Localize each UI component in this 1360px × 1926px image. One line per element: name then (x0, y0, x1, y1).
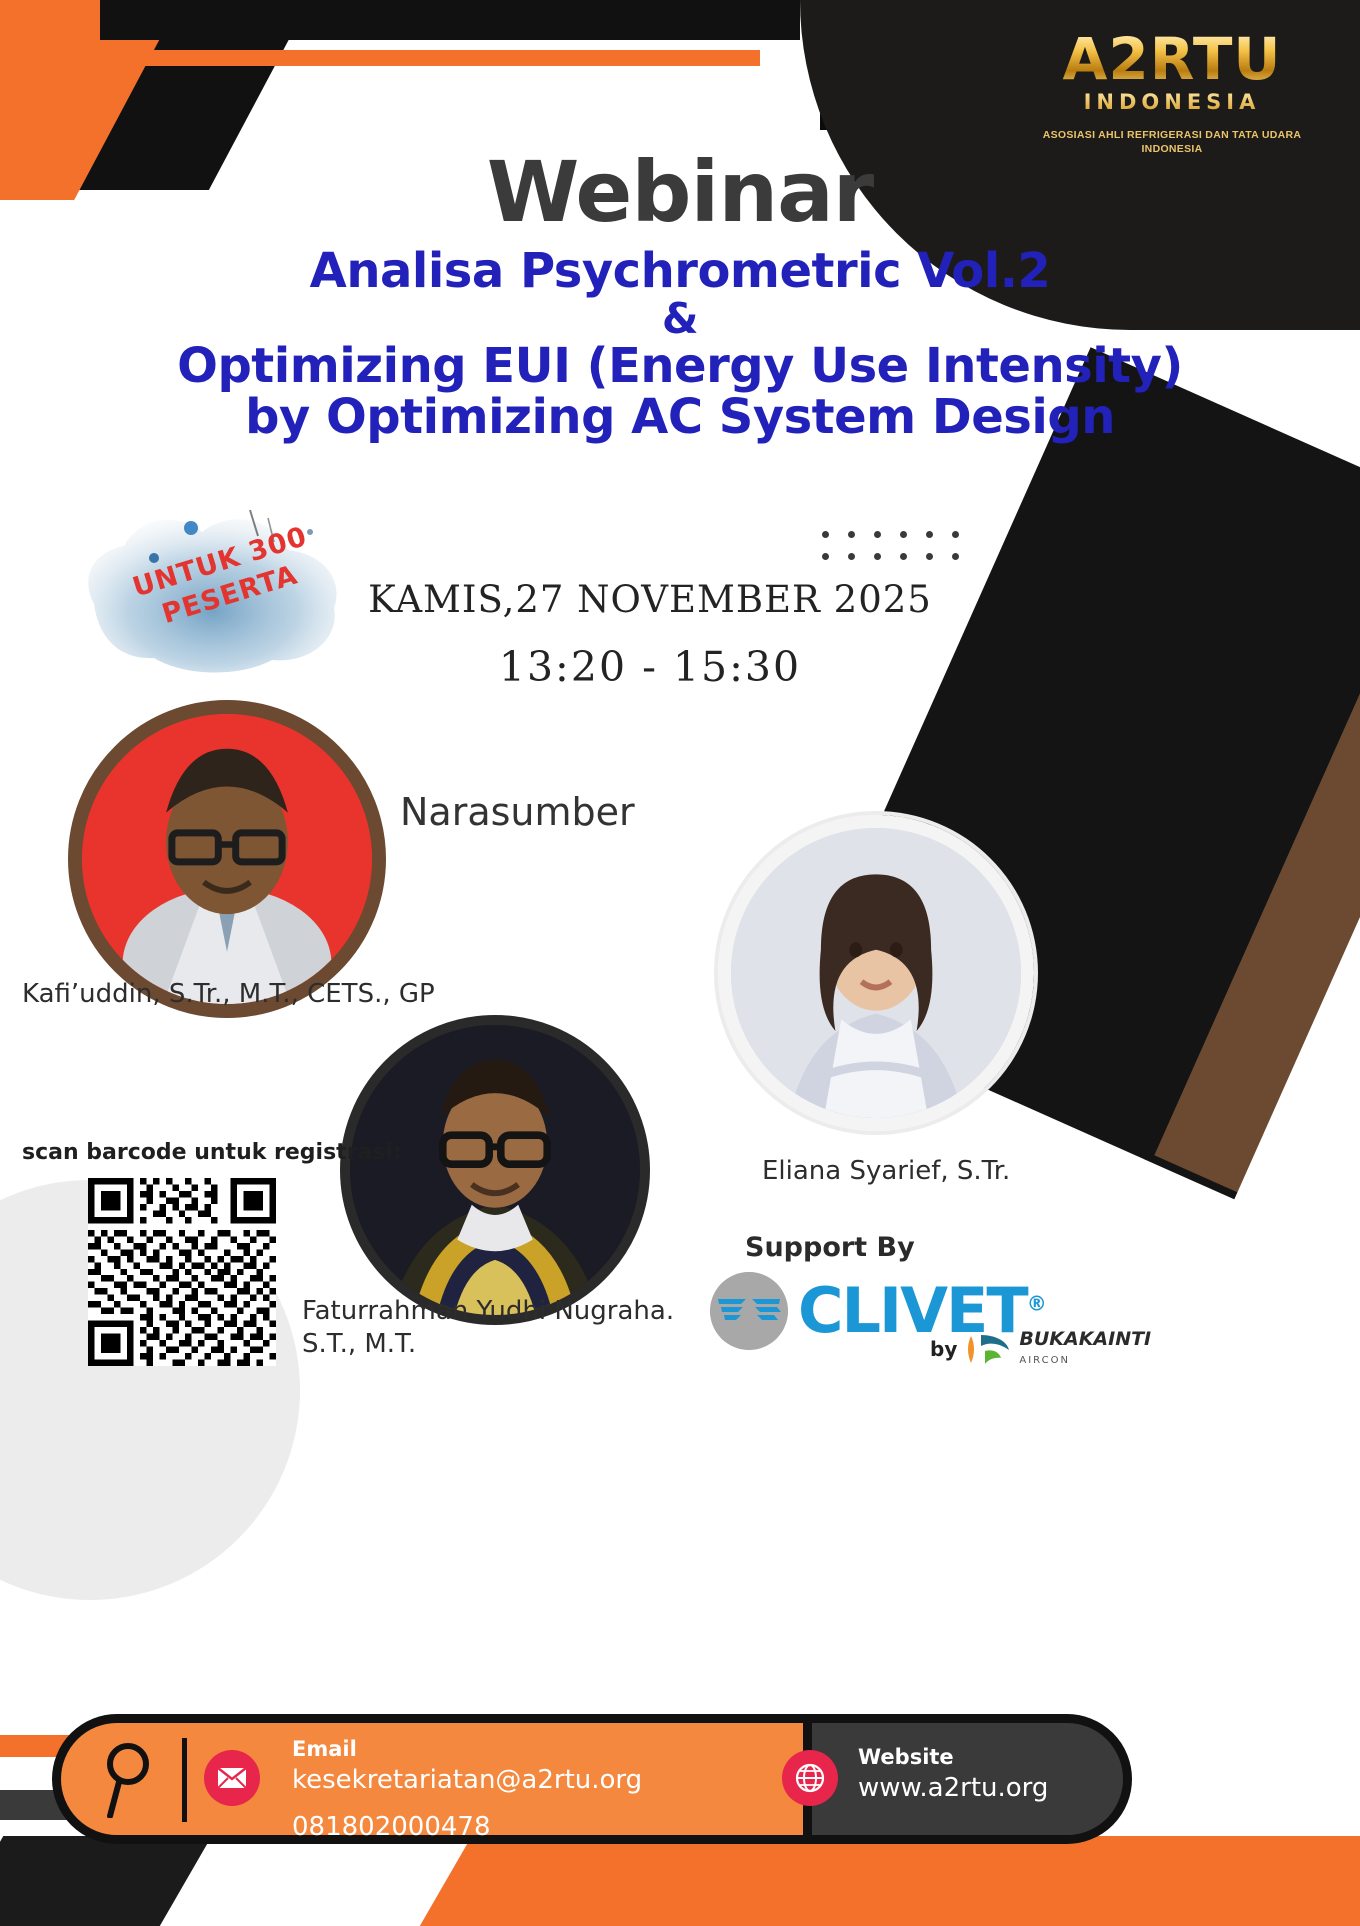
speaker-name-3-line2: S.T., M.T. (302, 1328, 702, 1361)
website-value[interactable]: www.a2rtu.org (858, 1771, 1048, 1806)
support-label: Support By (745, 1232, 915, 1263)
by-label: by (930, 1337, 957, 1361)
person-icon (102, 1742, 160, 1818)
website-label: Website (858, 1744, 1048, 1771)
subtitle-line-4: by Optimizing AC System Design (0, 392, 1360, 443)
subtitle-line-1: Analisa Psychrometric Vol.2 (0, 246, 1360, 297)
top-black-bar (100, 0, 800, 40)
speakers-section-label: Narasumber (400, 790, 635, 834)
clivet-mark-icon (710, 1272, 788, 1350)
phone-value[interactable]: 081802000478 (292, 1812, 491, 1842)
logo-wordmark: A2RTU (1022, 30, 1322, 88)
email-icon (204, 1750, 260, 1806)
speaker-name-1: Kafi’uddin, S.Tr., M.T., CETS., GP (22, 978, 502, 1011)
title-block: Webinar Analisa Psychrometric Vol.2 & Op… (0, 150, 1360, 443)
globe-icon (782, 1750, 838, 1806)
registered-mark-icon: ® (1027, 1291, 1045, 1315)
bukakainti-sub: AIRCON (1019, 1355, 1070, 1366)
a2rtu-logo: A2RTU INDONESIA ASOSIASI AHLI REFRIGERAS… (1022, 30, 1322, 156)
logo-tagline: ASOSIASI AHLI REFRIGERASI DAN TATA UDARA… (1022, 128, 1322, 156)
subtitle-ampersand: & (0, 297, 1360, 342)
event-date: KAMIS,27 NOVEMBER 2025 (330, 578, 970, 621)
footer-divider (182, 1738, 187, 1822)
email-value[interactable]: kesekretariatan@a2rtu.org (292, 1763, 642, 1798)
speaker-photo-1 (68, 700, 386, 1018)
logo-tagline-line2: INDONESIA (1022, 142, 1322, 156)
logo-country: INDONESIA (1022, 90, 1322, 114)
email-block: Email kesekretariatan@a2rtu.org (292, 1736, 642, 1798)
webinar-poster: A2RTU INDONESIA ASOSIASI AHLI REFRIGERAS… (0, 0, 1360, 1926)
page-title: Webinar (0, 150, 1360, 234)
email-label: Email (292, 1736, 642, 1763)
speaker-photo-2 (718, 815, 1034, 1131)
contact-footer: Email kesekretariatan@a2rtu.org 08180200… (52, 1714, 1082, 1844)
website-block: Website www.a2rtu.org (858, 1744, 1048, 1806)
speaker-photo-3 (340, 1015, 650, 1325)
registration-label: scan barcode untuk registrasi: (22, 1140, 402, 1165)
qr-code[interactable] (88, 1178, 276, 1366)
event-datetime: KAMIS,27 NOVEMBER 2025 13:20 - 15:30 (330, 578, 970, 691)
speaker-name-2: Eliana Syarief, S.Tr. (762, 1155, 1102, 1188)
subtitle-line-3: Optimizing EUI (Energy Use Intensity) (0, 341, 1360, 392)
avatar (350, 1025, 640, 1315)
dot-grid-decoration (812, 525, 968, 569)
bukakainti-mark-icon (965, 1330, 1011, 1368)
speaker-name-3: Faturrahman Yudhi Nugraha. S.T., M.T. (302, 1295, 702, 1360)
parent-brand-text: BUKAKAINTI AIRCON (1019, 1330, 1151, 1368)
bukakainti-name: BUKAKAINTI (1019, 1328, 1151, 1350)
top-orange-bar (120, 50, 760, 66)
event-time: 13:20 - 15:30 (330, 643, 970, 691)
logo-tagline-line1: ASOSIASI AHLI REFRIGERASI DAN TATA UDARA (1022, 128, 1322, 142)
parent-brand-line: by BUKAKAINTI AIRCON (930, 1330, 1151, 1368)
speaker-name-3-line1: Faturrahman Yudhi Nugraha. (302, 1295, 702, 1328)
avatar (731, 828, 1021, 1118)
avatar (82, 714, 372, 1004)
